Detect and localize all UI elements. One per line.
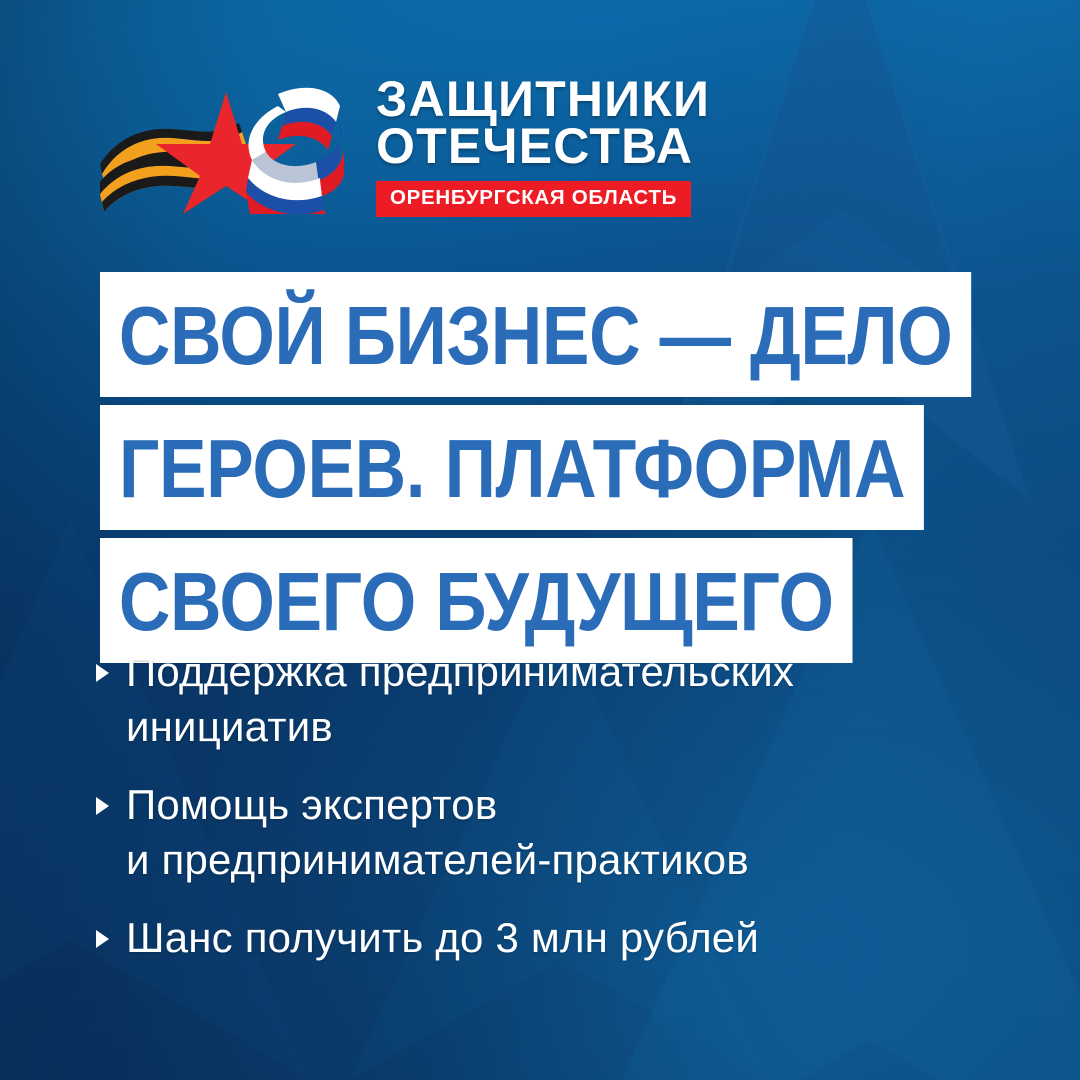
brand-logo-lockup: ЗАЩИТНИКИ ОТЕЧЕСТВА ОРЕНБУРГСКАЯ ОБЛАСТЬ [100,72,710,217]
russian-flag-ribbon-icon [246,88,344,214]
triangle-bullet-icon [96,797,109,815]
list-item: Шанс получить до 3 млн рублей [96,911,976,966]
list-item-label: Шанс получить до 3 млн рублей [126,911,759,966]
brand-title-line-2: ОТЕЧЕСТВА [376,123,693,170]
brand-title-line-1: ЗАЩИТНИКИ [376,76,710,123]
poster-canvas: ЗАЩИТНИКИ ОТЕЧЕСТВА ОРЕНБУРГСКАЯ ОБЛАСТЬ… [0,0,1080,1080]
headline-line-2: ГЕРОЕВ. ПЛАТФОРМА [100,405,924,530]
list-item: Поддержка предпринимательских инициатив [96,645,976,754]
list-item: Помощь экспертов и предпринимателей-прак… [96,778,976,887]
st-george-ribbon-star-flag-icon [100,74,350,214]
brand-text-block: ЗАЩИТНИКИ ОТЕЧЕСТВА ОРЕНБУРГСКАЯ ОБЛАСТЬ [376,72,710,217]
triangle-bullet-icon [96,664,109,682]
headline-block: СВОЙ БИЗНЕС — ДЕЛО ГЕРОЕВ. ПЛАТФОРМА СВО… [100,272,1080,663]
region-badge: ОРЕНБУРГСКАЯ ОБЛАСТЬ [376,181,691,217]
list-item-label: Помощь экспертов и предпринимателей-прак… [126,778,749,887]
triangle-bullet-icon [96,930,109,948]
benefits-list: Поддержка предпринимательских инициатив … [96,645,976,966]
headline-line-1: СВОЙ БИЗНЕС — ДЕЛО [100,272,971,397]
list-item-label: Поддержка предпринимательских инициатив [126,645,794,754]
